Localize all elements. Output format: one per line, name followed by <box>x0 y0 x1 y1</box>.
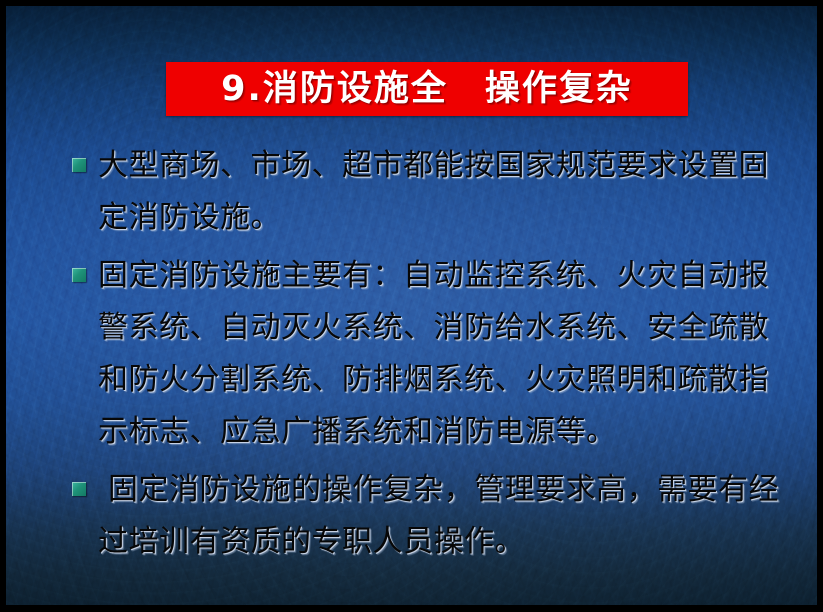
slide-title: 9.消防设施全 操作复杂 <box>221 72 633 107</box>
square-bullet-icon <box>72 482 86 496</box>
bullet-text: 大型商场、市场、超市都能按国家规范要求设置固定消防设施。 <box>98 140 784 244</box>
square-bullet-icon <box>72 158 86 172</box>
list-item: 大型商场、市场、超市都能按国家规范要求设置固定消防设施。 <box>72 140 784 244</box>
bullet-text: 固定消防设施的操作复杂，管理要求高，需要有经过培训有资质的专职人员操作。 <box>98 464 784 568</box>
bullet-list: 大型商场、市场、超市都能按国家规范要求设置固定消防设施。 固定消防设施主要有：自… <box>72 140 784 574</box>
square-bullet-icon <box>72 268 86 282</box>
bullet-text: 固定消防设施主要有：自动监控系统、火灾自动报警系统、自动灭火系统、消防给水系统、… <box>98 250 784 458</box>
list-item: 固定消防设施的操作复杂，管理要求高，需要有经过培训有资质的专职人员操作。 <box>72 464 784 568</box>
list-item: 固定消防设施主要有：自动监控系统、火灾自动报警系统、自动灭火系统、消防给水系统、… <box>72 250 784 458</box>
title-banner: 9.消防设施全 操作复杂 <box>166 62 688 116</box>
presentation-slide: 9.消防设施全 操作复杂 大型商场、市场、超市都能按国家规范要求设置固定消防设施… <box>0 0 823 612</box>
